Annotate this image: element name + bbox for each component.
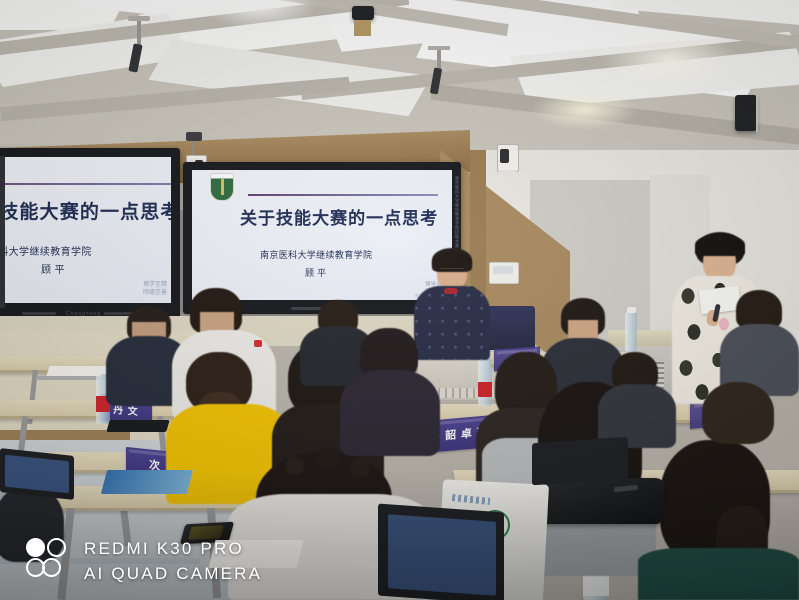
njmu-crest-icon	[210, 173, 234, 201]
center-slide-title: 关于技能大赛的一点思考	[240, 204, 438, 229]
center-slide-org: 南京医科大学继续教育学院	[260, 248, 372, 261]
host-paper-sheet	[699, 286, 742, 315]
blue-folder	[101, 470, 193, 494]
presenter-glasses	[440, 268, 464, 274]
presenter-blouse-pattern	[414, 292, 490, 360]
center-slide: 关于技能大赛的一点思考 南京医科大学继续教育学院 顾平 博学至精 明德至善	[192, 170, 452, 300]
wall-camera-stem	[192, 141, 194, 155]
ceiling-speaker-bracket	[354, 20, 371, 36]
foreground-head	[702, 382, 774, 444]
audience-torso	[340, 370, 440, 456]
wall-camera-right-lens	[500, 149, 509, 163]
chair-panel	[388, 514, 496, 596]
projector-mount-plate-2	[428, 46, 450, 50]
wall-speaker-right	[735, 95, 757, 131]
bottle-label	[478, 382, 492, 397]
foreground-torso-green	[638, 548, 799, 600]
left-slide: 关于技能大赛的一点思考 南京医科大学继续教育学院 顾平 博学至精 明德至善	[5, 157, 171, 303]
wall-camera-bracket	[186, 132, 202, 141]
wood-column	[470, 150, 486, 300]
watermark-line-2: AI QUAD CAMERA	[84, 561, 262, 586]
left-slide-presenter: 顾平	[41, 261, 68, 276]
lectern-monitor[interactable]	[487, 306, 535, 350]
wall-speaker-right-bracket	[756, 92, 758, 132]
wall-camera-right-base	[499, 170, 516, 175]
audience-shirt-logo	[254, 340, 262, 347]
watermark-line-1: REDMI K30 PRO	[84, 536, 262, 561]
chair-back	[532, 437, 628, 486]
left-slide-title: 关于技能大赛的一点思考	[5, 197, 171, 224]
left-board-tray	[22, 312, 56, 315]
ceiling-speaker	[352, 6, 374, 20]
quad-camera-logo-icon	[26, 538, 72, 584]
black-bag	[541, 478, 666, 524]
left-smartboard[interactable]: 关于技能大赛的一点思考 南京医科大学继续教育学院 顾平 博学至精 明德至善 Ch…	[0, 148, 180, 320]
chair-panel	[5, 455, 69, 494]
bottle-cap	[627, 307, 636, 313]
water-bottle	[625, 312, 637, 352]
left-slide-motto-1: 博学至精	[143, 282, 167, 290]
photo-scene: 关于技能大赛的一点思考 南京医科大学继续教育学院 顾平 博学至精 明德至善 Ch…	[0, 0, 799, 600]
camera-watermark: REDMI K30 PRO AI QUAD CAMERA	[26, 534, 386, 590]
center-slide-presenter: 顾平	[305, 266, 329, 279]
paper-sheet	[46, 366, 103, 376]
left-slide-org: 南京医科大学继续教育学院	[5, 243, 92, 258]
tablet-device[interactable]	[106, 420, 169, 432]
left-slide-motto-2: 明德至善	[143, 290, 167, 298]
thermostat-display	[493, 266, 513, 274]
host-hair-front	[695, 234, 745, 256]
projector-mount-plate	[128, 16, 150, 21]
